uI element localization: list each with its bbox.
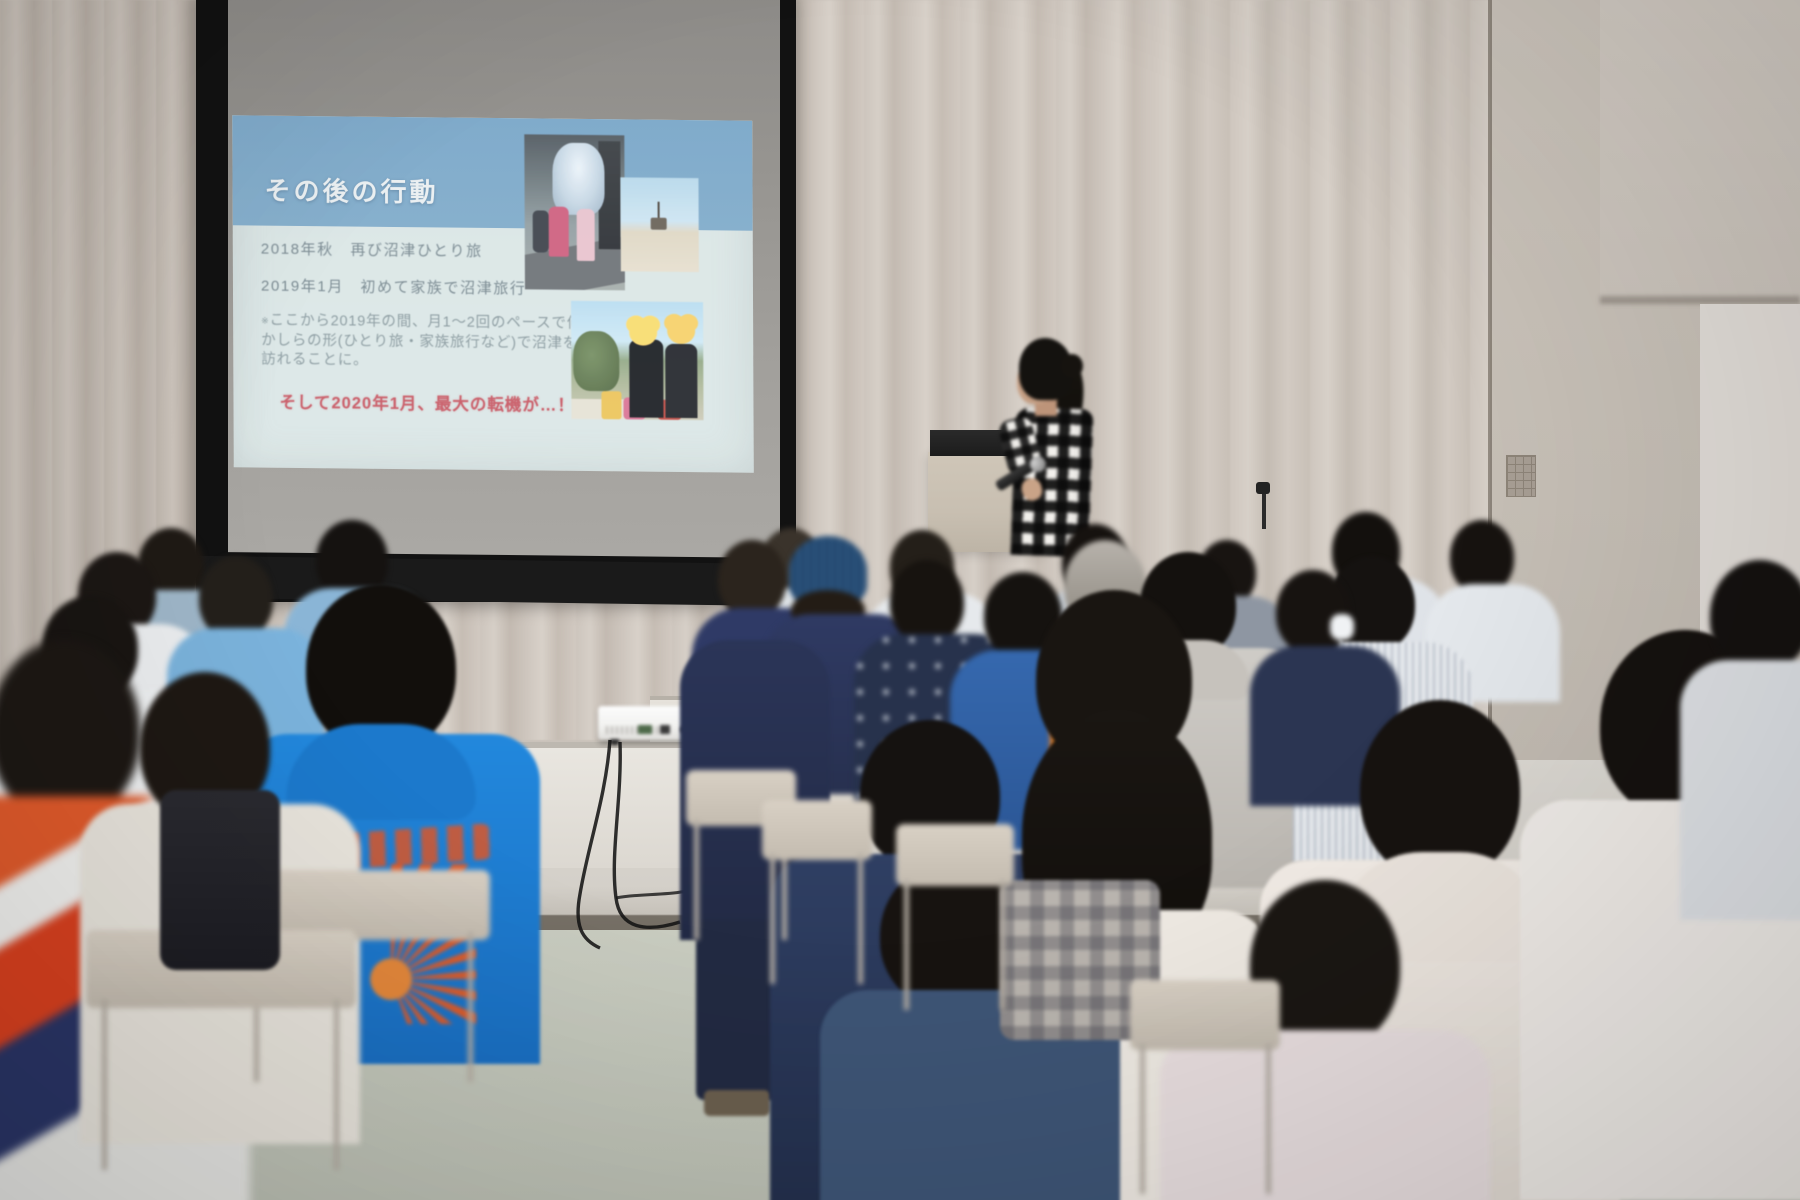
slide-photo-seaside: [620, 177, 698, 272]
grid-vent-icon: [1506, 455, 1536, 497]
slide-bullet-text: ここから2019年の間、月1〜2回のペースで何かしらの形(ひとり旅・家族旅行など…: [261, 313, 582, 369]
chair-leg: [858, 854, 863, 984]
slide-highlight-text: そして2020年1月、最大の転機が…！: [279, 389, 591, 416]
head: [718, 540, 786, 618]
head: [1450, 520, 1514, 594]
head: [0, 640, 140, 820]
chair-leg: [904, 880, 909, 1010]
chair-back: [762, 800, 872, 860]
chair-leg: [1140, 1044, 1145, 1194]
shoe: [704, 1090, 770, 1116]
slide-title: その後の行動: [264, 171, 438, 210]
slide-bullet: ※ここから2019年の間、月1〜2回のペースで何かしらの形(ひとり旅・家族旅行な…: [261, 312, 591, 375]
head: [890, 560, 964, 644]
projector-foot-left: [610, 739, 619, 745]
projected-slide: その後の行動 2018年秋 再び沼津ひとり旅 2019年1月 初めて家族で沼津旅…: [232, 115, 754, 472]
chair-leg: [334, 1000, 339, 1170]
microphone-stand-head: [1256, 482, 1270, 494]
slide-photo-cat-mask-group: [571, 301, 704, 420]
projector-vga-port: [638, 725, 652, 734]
face-mask-icon: [1330, 614, 1354, 640]
projector-hdmi-port: [660, 725, 670, 734]
slide-photo-anime-standee: [524, 134, 625, 290]
chair-leg: [770, 854, 775, 984]
chair-leg: [694, 820, 699, 940]
presenter: [995, 338, 1105, 553]
chair-leg: [1000, 880, 1005, 1010]
chair-leg: [102, 1000, 107, 1170]
chair-leg: [468, 932, 473, 1082]
presenter-hair-bun: [1061, 354, 1083, 378]
wall-soffit: [1600, 0, 1800, 300]
chair-back: [896, 824, 1014, 886]
torso: [1680, 660, 1800, 920]
pink-top: [1160, 1030, 1490, 1200]
presentation-room-photo: その後の行動 2018年秋 再び沼津ひとり旅 2019年1月 初めて家族で沼津旅…: [0, 0, 1800, 1200]
chair-leg: [1266, 1044, 1271, 1194]
backpack: [160, 790, 280, 970]
projector-vents: [606, 726, 666, 734]
head: [1276, 570, 1350, 654]
chair-back: [1130, 980, 1280, 1050]
head: [1710, 560, 1800, 672]
projection-screen-bottom-bar: [196, 556, 796, 606]
soffit-shadow: [1600, 296, 1800, 304]
